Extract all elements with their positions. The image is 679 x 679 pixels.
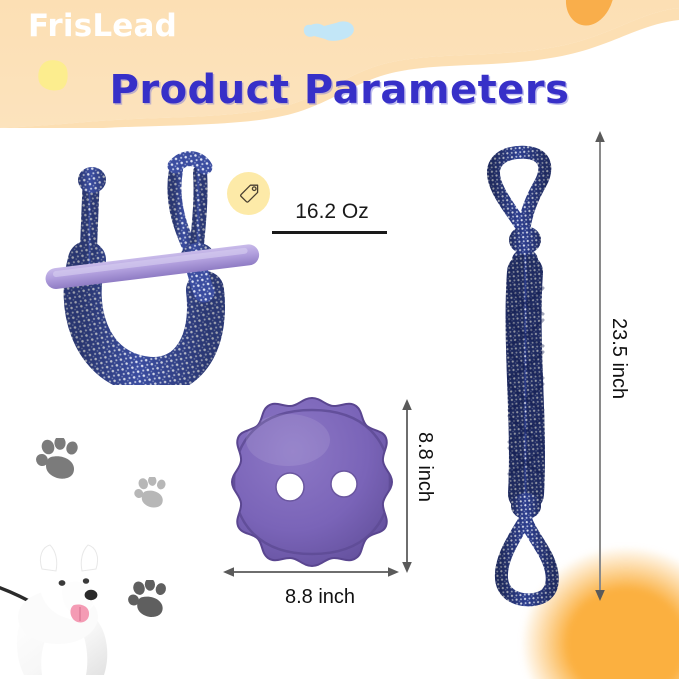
- product-parameters-infographic: FrisLead Product Parameters 16.2 Oz: [0, 0, 679, 679]
- weight-underline: [272, 231, 387, 234]
- brand-logo: FrisLead: [28, 8, 177, 44]
- page-title: Product Parameters: [0, 67, 679, 113]
- rope-u-toy: [42, 140, 267, 385]
- paw-print-large-icon: [36, 438, 82, 482]
- dimension-label-disc-height: 8.8 inch: [413, 432, 436, 502]
- blue-bone-decoration: [303, 20, 356, 44]
- dimension-line-rope-length: [592, 130, 608, 602]
- paw-print-small-icon: [134, 477, 169, 510]
- dog-eye-right: [83, 578, 89, 584]
- dimension-line-disc-width: [222, 564, 400, 580]
- samoyed-dog: [0, 525, 161, 679]
- rope-tug-toy: [468, 142, 590, 612]
- dog-nose: [85, 590, 98, 600]
- frisbee-disc: [222, 392, 402, 572]
- weight-value: 16.2 Oz: [276, 200, 388, 224]
- dimension-label-disc-width: 8.8 inch: [240, 586, 400, 609]
- dog-eye-left: [59, 580, 66, 586]
- dimension-label-rope-length: 23.5 inch: [607, 318, 630, 399]
